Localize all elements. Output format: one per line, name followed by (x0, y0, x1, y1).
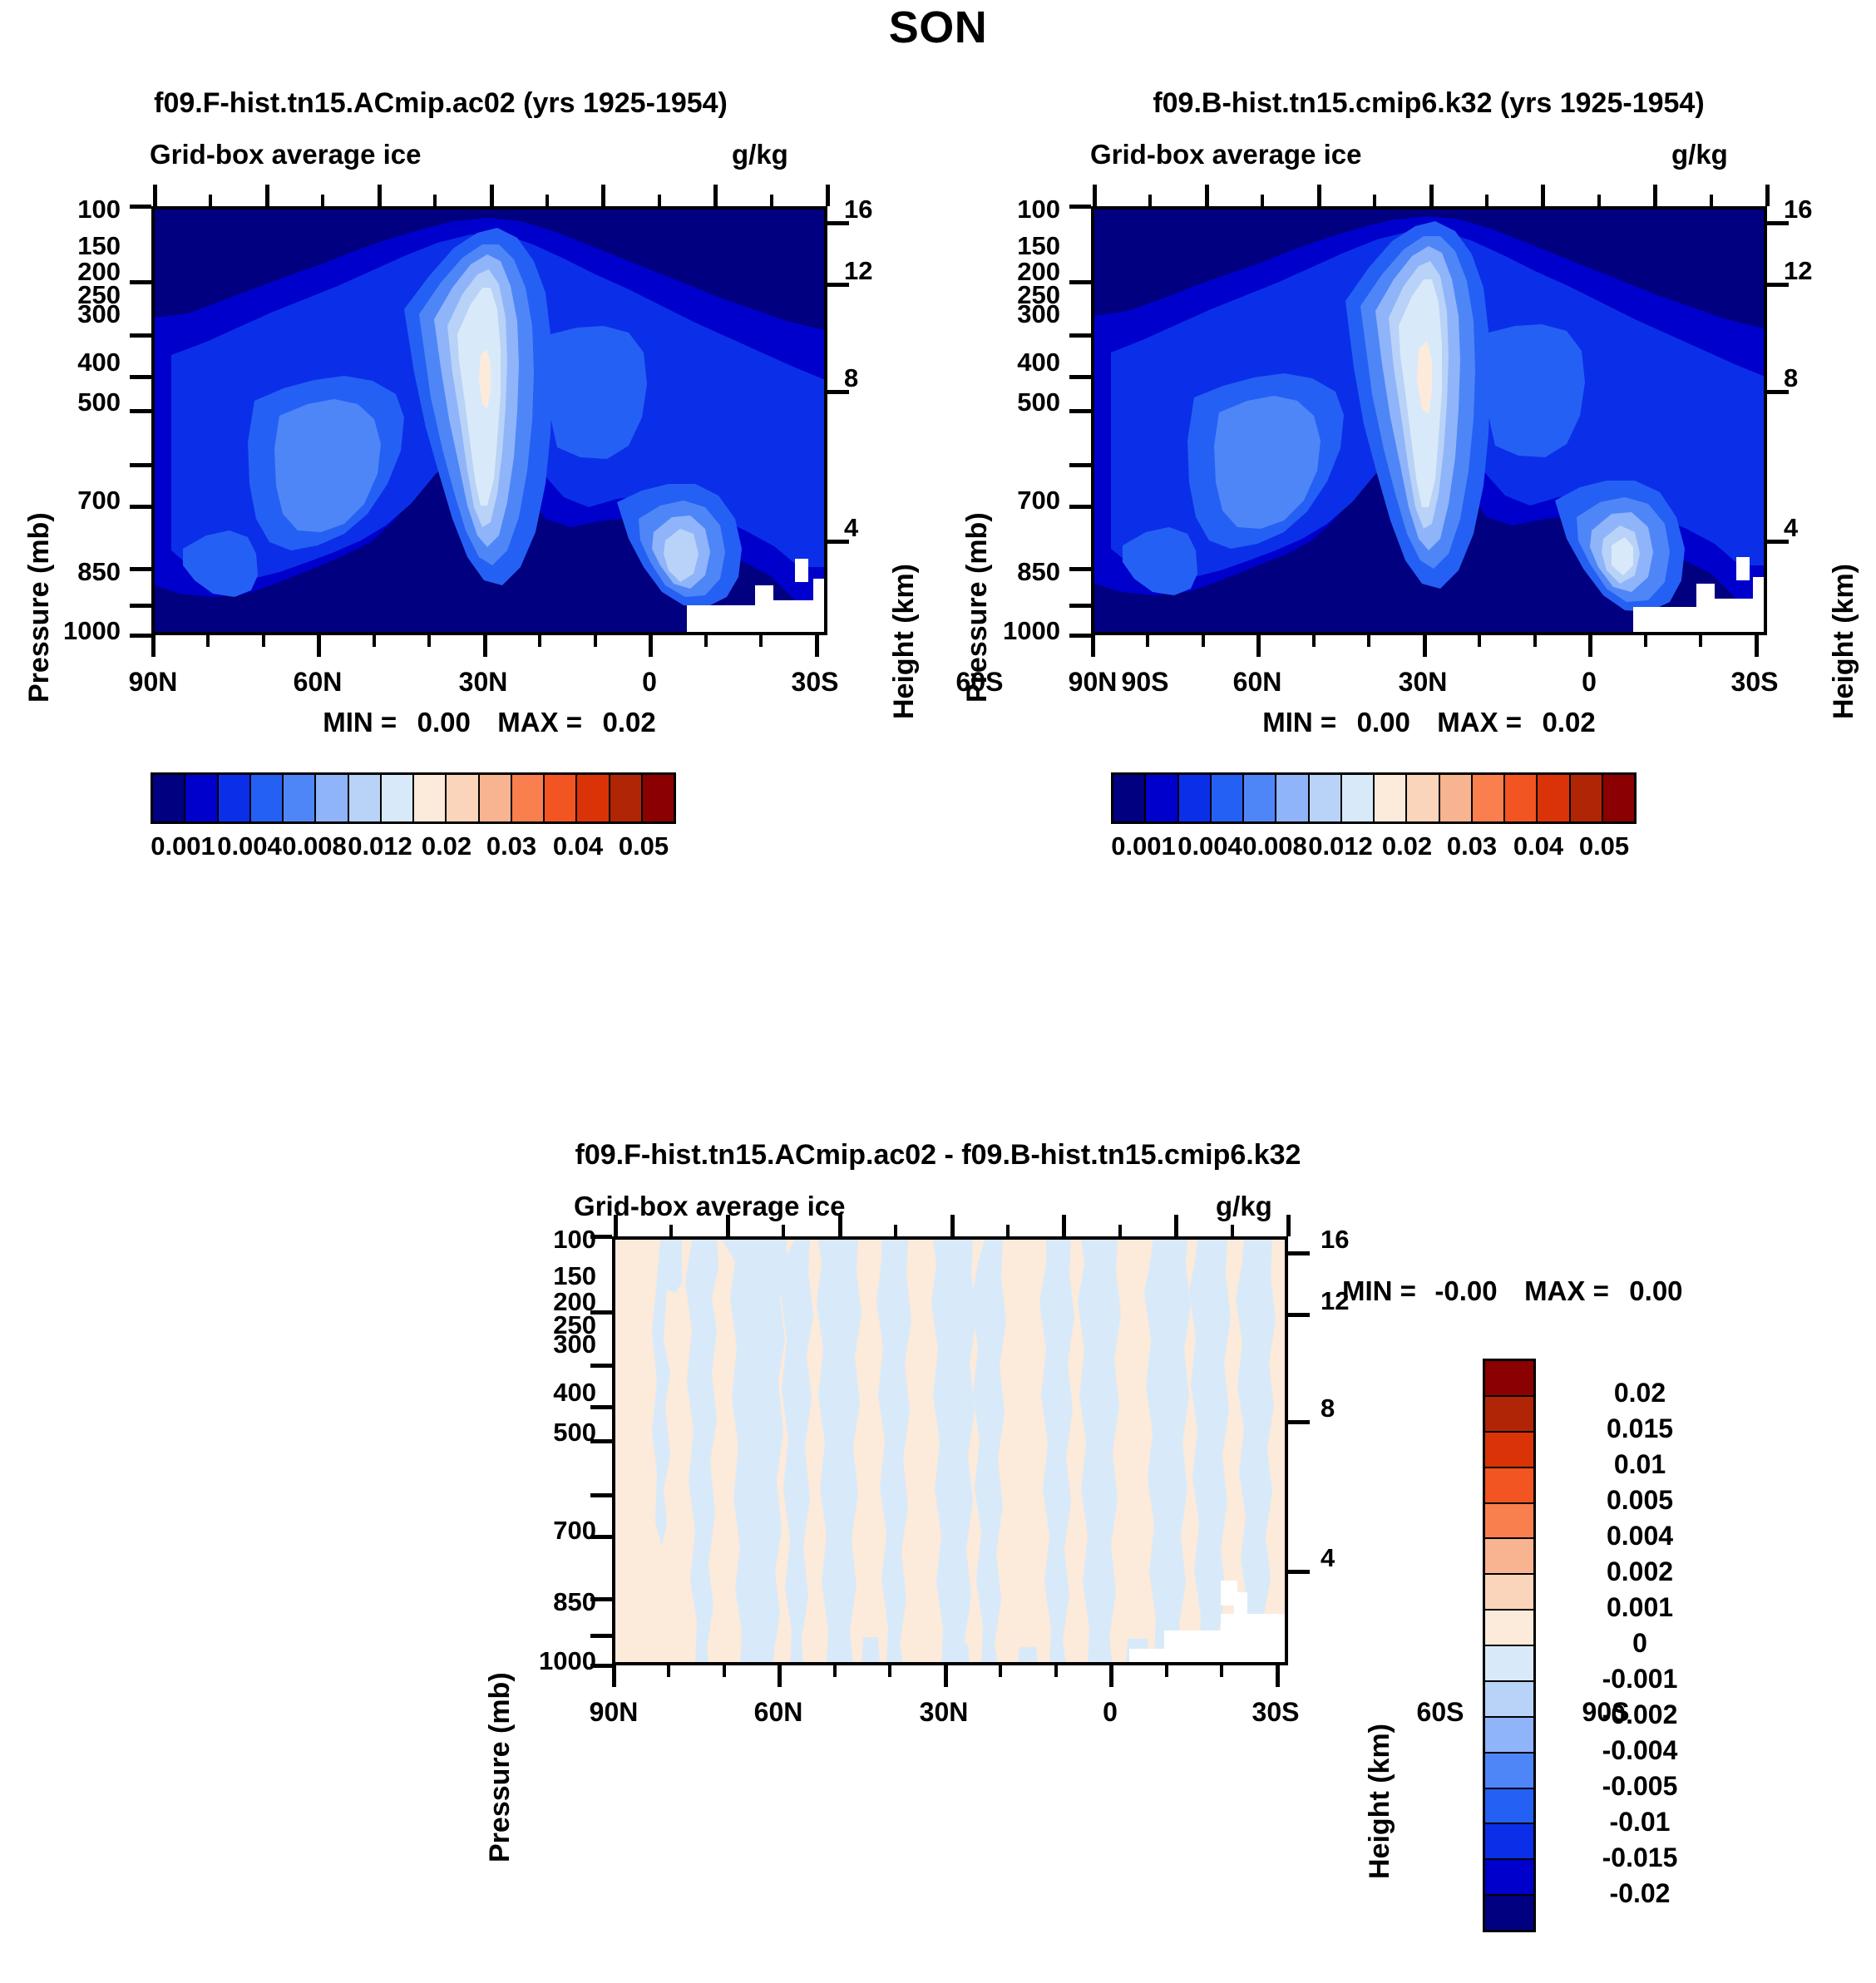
top-tick (1485, 195, 1488, 206)
colorbar-cell (219, 775, 251, 821)
top-tick (1765, 185, 1770, 206)
panel-difference-minmax: MIN = -0.00 MAX = 0.00 (1342, 1275, 1683, 1307)
colorbar-cell (1276, 775, 1309, 821)
panel-difference: f09.F-hist.tn15.ACmip.ac02 - f09.B-hist.… (0, 1139, 1876, 1983)
panel-top-left-plot[interactable] (151, 206, 827, 635)
pressure-tick (130, 505, 151, 509)
pressure-tick (590, 1634, 612, 1638)
ytick-100: 100 (973, 195, 1060, 224)
top-tick (378, 185, 382, 206)
top-tick (209, 195, 212, 206)
colorbar-cell (545, 775, 577, 821)
panel-top-left-xaxis (151, 635, 827, 660)
colorbar-cell (153, 775, 185, 821)
colorbar-cell (1485, 1504, 1533, 1540)
colorbar-cell (577, 775, 610, 821)
top-tick (601, 185, 605, 206)
panel-top-left-colorbar[interactable] (151, 772, 676, 824)
colorbar-cell (1571, 775, 1603, 821)
pressure-tick (130, 375, 151, 379)
colorbar-cell (480, 775, 512, 821)
panel-top-left-variable-label: Grid-box average ice (150, 139, 421, 170)
colorbar-cell (185, 775, 218, 821)
colorbar-cell (1310, 775, 1342, 821)
top-tick (490, 185, 494, 206)
colorbar-cell (1485, 1754, 1533, 1789)
panel-top-right-height-axis-title: Height (km) (1828, 564, 1860, 719)
xtick-0: 0 (1539, 667, 1639, 698)
panel-difference-title: f09.F-hist.tn15.ACmip.ac02 - f09.B-hist.… (0, 1139, 1876, 1172)
colorbar-cell (251, 775, 284, 821)
cbar-label: 0.002 (1548, 1556, 1731, 1587)
top-tick (614, 1215, 618, 1236)
height-tick (827, 283, 849, 287)
colorbar-cell (1485, 1433, 1533, 1468)
ytick-850: 850 (973, 557, 1060, 587)
cbar-label: 0.05 (577, 831, 710, 861)
cbar-label: 0 (1548, 1628, 1731, 1659)
top-tick (1286, 1215, 1291, 1236)
xtick-30S: 30S (1705, 667, 1804, 698)
min-value: 0.00 (1357, 707, 1410, 737)
colorbar-cell (284, 775, 316, 821)
top-tick (1006, 1225, 1010, 1236)
ytick-height-16: 16 (1784, 195, 1842, 224)
xtick-30N: 30N (894, 1697, 994, 1728)
max-value: 0.02 (603, 707, 656, 737)
pressure-tick (1069, 505, 1091, 509)
xtick-30S: 30S (765, 667, 865, 698)
pressure-tick (1069, 604, 1091, 608)
pressure-tick (1069, 205, 1091, 209)
height-tick (1288, 1420, 1310, 1424)
max-label: MAX = (1524, 1275, 1609, 1306)
pressure-tick (1069, 280, 1091, 284)
top-tick (1174, 1215, 1178, 1236)
panel-top-right-minmax: MIN = 0.00 MAX = 0.02 (1091, 707, 1767, 738)
ytick-500: 500 (33, 387, 121, 417)
panel-top-left-units-label: g/kg (732, 139, 788, 170)
top-tick (1148, 195, 1152, 206)
ytick-1000: 1000 (17, 616, 121, 646)
cbar-label: 0.001 (1548, 1592, 1731, 1623)
colorbar-cell (382, 775, 414, 821)
pressure-tick (130, 409, 151, 413)
ytick-400: 400 (973, 348, 1060, 377)
colorbar-cell (316, 775, 348, 821)
panel-top-left-title: f09.F-hist.tn15.ACmip.ac02 (yrs 1925-195… (0, 87, 881, 120)
pressure-tick (1069, 333, 1091, 338)
colorbar-cell (1485, 1896, 1533, 1930)
colorbar-cell (1146, 775, 1178, 821)
ytick-850: 850 (509, 1587, 596, 1617)
ytick-500: 500 (973, 387, 1060, 417)
colorbar-cell (1538, 775, 1570, 821)
panel-top-right-title: f09.B-hist.tn15.cmip6.k32 (yrs 1925-1954… (988, 87, 1869, 120)
xtick-90N: 90N (1043, 667, 1143, 698)
cbar-label: -0.002 (1548, 1699, 1731, 1730)
pressure-tick (130, 463, 151, 467)
colorbar-cell (1473, 775, 1505, 821)
ytick-400: 400 (509, 1378, 596, 1408)
season-title: SON (0, 2, 1876, 53)
panel-difference-pressure-axis-title: Pressure (mb) (484, 1672, 516, 1862)
colorbar-cell (1440, 775, 1473, 821)
colorbar-cell (1485, 1397, 1533, 1433)
top-tick (1373, 195, 1376, 206)
panel-top-right-units-label: g/kg (1671, 139, 1728, 170)
colorbar-cell (1113, 775, 1146, 821)
panel-top-right: f09.B-hist.tn15.cmip6.k32 (yrs 1925-1954… (938, 87, 1876, 1185)
top-tick (1317, 185, 1321, 206)
top-tick (1653, 185, 1657, 206)
colorbar-cell (610, 775, 643, 821)
ytick-height-8: 8 (1784, 363, 1842, 393)
colorbar-cell (1244, 775, 1276, 821)
pressure-tick (1069, 567, 1091, 571)
top-tick (726, 1215, 730, 1236)
top-tick (658, 195, 661, 206)
height-tick (1767, 221, 1789, 225)
pressure-tick (590, 1597, 612, 1601)
cbar-label: 0.004 (1548, 1521, 1731, 1551)
ytick-700: 700 (33, 486, 121, 515)
panel-top-left-colorbar-labels: 0.001 0.004 0.008 0.012 0.02 0.03 0.04 0… (151, 831, 676, 868)
colorbar-cell (414, 775, 447, 821)
top-tick (713, 185, 718, 206)
panel-difference-xaxis (612, 1665, 1288, 1690)
colorbar-cell (1485, 1361, 1533, 1397)
panel-difference-colorbar[interactable] (1483, 1359, 1536, 1932)
colorbar-cell (1212, 775, 1244, 821)
colorbar-cell (512, 775, 545, 821)
colorbar-cell (1485, 1682, 1533, 1718)
ytick-1000: 1000 (492, 1646, 596, 1676)
pressure-tick (130, 567, 151, 571)
height-tick (827, 540, 849, 544)
xtick-0: 0 (600, 667, 699, 698)
colorbar-cell (1505, 775, 1538, 821)
panel-difference-height-axis-title: Height (km) (1364, 1724, 1396, 1879)
colorbar-cell (1485, 1539, 1533, 1575)
ytick-height-8: 8 (844, 363, 902, 393)
top-tick (433, 195, 437, 206)
pressure-tick (130, 280, 151, 284)
top-tick (1093, 185, 1097, 206)
panel-top-left-height-axis-title: Height (km) (888, 564, 921, 719)
cbar-label: 0.015 (1548, 1413, 1731, 1444)
xtick-60N: 60N (728, 1697, 828, 1728)
panel-difference-colorbar-labels: 0.02 0.015 0.01 0.005 0.004 0.002 0.001 … (1548, 1359, 1731, 1932)
max-label: MAX = (1437, 707, 1522, 737)
pressure-tick (590, 1405, 612, 1409)
ytick-height-8: 8 (1321, 1394, 1379, 1423)
pressure-tick (590, 1439, 612, 1443)
colorbar-cell (1603, 775, 1634, 821)
pressure-tick (590, 1664, 612, 1668)
top-tick (1261, 195, 1264, 206)
colorbar-cell (1485, 1646, 1533, 1682)
pressure-tick (590, 1235, 612, 1239)
xtick-60N: 60N (268, 667, 368, 698)
panel-top-right-pressure-axis-title: Pressure (mb) (961, 512, 994, 703)
ytick-500: 500 (509, 1418, 596, 1448)
colorbar-cell (1485, 1824, 1533, 1860)
pressure-tick (130, 604, 151, 608)
ytick-300: 300 (973, 299, 1060, 329)
top-tick (546, 195, 549, 206)
xtick-0: 0 (1060, 1697, 1160, 1728)
pressure-tick (130, 634, 151, 638)
top-tick (950, 1215, 955, 1236)
max-value: 0.00 (1629, 1275, 1682, 1306)
ytick-100: 100 (33, 195, 121, 224)
panel-difference-units-label: g/kg (1216, 1191, 1272, 1222)
colorbar-cell (643, 775, 674, 821)
cbar-label: -0.004 (1548, 1735, 1731, 1766)
top-tick (894, 1225, 897, 1236)
pressure-tick (1069, 409, 1091, 413)
top-tick (265, 185, 269, 206)
min-value: -0.00 (1434, 1275, 1497, 1306)
panel-top-right-variable-label: Grid-box average ice (1090, 139, 1361, 170)
ytick-700: 700 (509, 1516, 596, 1546)
min-label: MIN = (1262, 707, 1336, 737)
pressure-tick (590, 1535, 612, 1539)
xtick-90N: 90N (564, 1697, 664, 1728)
height-tick (1288, 1313, 1310, 1317)
height-tick (827, 390, 849, 394)
panel-top-left-minmax: MIN = 0.00 MAX = 0.02 (151, 707, 827, 738)
top-tick (1710, 195, 1713, 206)
cbar-label: 0.01 (1548, 1449, 1731, 1480)
colorbar-cell (1485, 1789, 1533, 1825)
pressure-tick (590, 1310, 612, 1315)
min-label: MIN = (323, 707, 397, 737)
top-tick (1429, 185, 1434, 206)
pressure-tick (1069, 463, 1091, 467)
xtick-90N: 90N (103, 667, 203, 698)
colorbar-cell (447, 775, 479, 821)
cbar-label: -0.02 (1548, 1878, 1731, 1909)
top-tick (1205, 185, 1209, 206)
ytick-height-4: 4 (1321, 1543, 1379, 1573)
height-tick (1288, 1251, 1310, 1255)
pressure-tick (130, 205, 151, 209)
panel-top-right-xaxis (1091, 635, 1767, 660)
height-tick (827, 221, 849, 225)
panel-top-right-plot[interactable] (1091, 206, 1767, 635)
colorbar-cell (1342, 775, 1375, 821)
max-label: MAX = (497, 707, 582, 737)
colorbar-cell (1485, 1468, 1533, 1504)
top-tick (770, 195, 773, 206)
height-tick (1767, 540, 1789, 544)
ytick-700: 700 (973, 486, 1060, 515)
panel-top-left: f09.F-hist.tn15.ACmip.ac02 (yrs 1925-195… (0, 87, 938, 1185)
ytick-850: 850 (33, 557, 121, 587)
colorbar-cell (1375, 775, 1407, 821)
min-value: 0.00 (417, 707, 471, 737)
cbar-label: -0.001 (1548, 1664, 1731, 1694)
cbar-label: 0.05 (1538, 831, 1671, 861)
colorbar-cell (1485, 1860, 1533, 1896)
top-tick (1597, 195, 1601, 206)
xtick-60N: 60N (1207, 667, 1307, 698)
ytick-height-16: 16 (844, 195, 902, 224)
colorbar-cell (1485, 1575, 1533, 1611)
pressure-tick (130, 333, 151, 338)
ytick-100: 100 (509, 1225, 596, 1255)
top-tick (838, 1215, 842, 1236)
cbar-label: 0.005 (1548, 1485, 1731, 1516)
top-tick (826, 185, 830, 206)
panel-top-left-pressure-axis-title: Pressure (mb) (23, 512, 56, 703)
height-tick (1288, 1570, 1310, 1574)
ytick-height-12: 12 (844, 256, 902, 286)
panel-top-right-colorbar-labels: 0.001 0.004 0.008 0.012 0.02 0.03 0.04 0… (1111, 831, 1637, 868)
cbar-label: -0.015 (1548, 1842, 1731, 1873)
cbar-label: -0.01 (1548, 1807, 1731, 1837)
ytick-1000: 1000 (956, 616, 1060, 646)
ytick-300: 300 (33, 299, 121, 329)
top-tick (1062, 1215, 1066, 1236)
pressure-tick (1069, 634, 1091, 638)
height-tick (1767, 390, 1789, 394)
top-tick (321, 195, 324, 206)
xtick-30S: 30S (1226, 1697, 1326, 1728)
ytick-400: 400 (33, 348, 121, 377)
panel-top-right-colorbar[interactable] (1111, 772, 1637, 824)
top-tick (1118, 1225, 1122, 1236)
ytick-height-16: 16 (1321, 1225, 1379, 1255)
pressure-tick (1069, 375, 1091, 379)
colorbar-cell (1407, 775, 1439, 821)
ytick-300: 300 (509, 1329, 596, 1359)
colorbar-cell (349, 775, 382, 821)
pressure-tick (590, 1493, 612, 1497)
colorbar-cell (1485, 1611, 1533, 1646)
ytick-height-12: 12 (1784, 256, 1842, 286)
xtick-60S: 60S (1869, 667, 1876, 698)
max-value: 0.02 (1543, 707, 1596, 737)
top-tick (153, 185, 157, 206)
ytick-height-4: 4 (1784, 513, 1842, 543)
min-label: MIN = (1342, 1275, 1416, 1306)
colorbar-cell (1179, 775, 1212, 821)
ytick-height-4: 4 (844, 513, 902, 543)
xtick-30N: 30N (433, 667, 533, 698)
top-tick (1231, 1225, 1234, 1236)
xtick-60S: 60S (1390, 1697, 1490, 1728)
cbar-label: -0.005 (1548, 1771, 1731, 1802)
pressure-tick (590, 1364, 612, 1368)
cbar-label: 0.02 (1548, 1378, 1731, 1408)
panel-difference-plot[interactable] (612, 1236, 1288, 1665)
colorbar-cell (1485, 1718, 1533, 1754)
height-tick (1767, 283, 1789, 287)
top-tick (782, 1225, 785, 1236)
xtick-30N: 30N (1373, 667, 1473, 698)
top-tick (1541, 185, 1545, 206)
top-tick (669, 1225, 673, 1236)
